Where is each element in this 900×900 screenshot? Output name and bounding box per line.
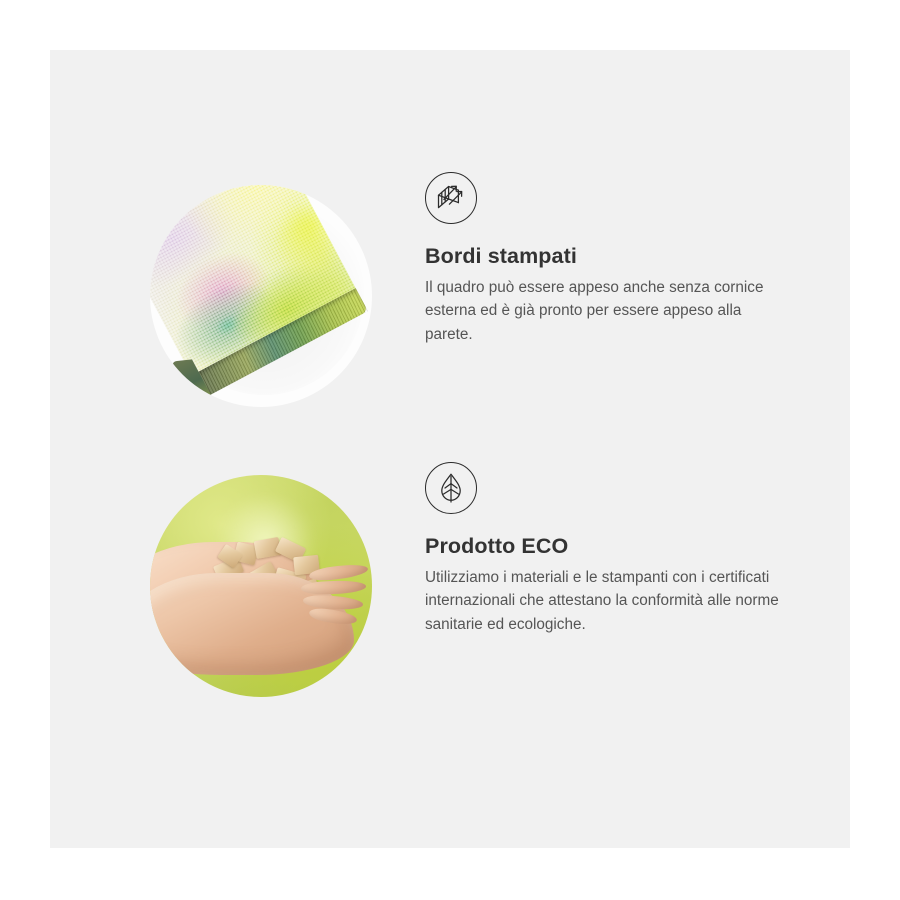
content-panel: Bordi stampati Il quadro può essere appe… xyxy=(50,50,850,848)
finger xyxy=(301,580,366,595)
feature-title: Prodotto ECO xyxy=(425,534,805,559)
feature-block-printed-edges: Bordi stampati Il quadro può essere appe… xyxy=(50,160,850,382)
hands-holding-wood-chips-photo xyxy=(150,475,372,697)
canvas-slab xyxy=(150,185,372,407)
feature-description: Utilizziamo i materiali e le stampanti c… xyxy=(425,566,787,636)
feature-body-eco-product: Prodotto ECO Utilizziamo i materiali e l… xyxy=(425,462,805,636)
feature-body-printed-edges: Bordi stampati Il quadro può essere appe… xyxy=(425,172,805,346)
canvas-corner-photo xyxy=(150,185,372,407)
feature-title: Bordi stampati xyxy=(425,244,805,269)
feature-description: Il quadro può essere appeso anche senza … xyxy=(425,276,787,346)
finger xyxy=(302,594,363,611)
leaf-icon xyxy=(425,462,477,514)
feature-block-eco-product: Prodotto ECO Utilizziamo i materiali e l… xyxy=(50,450,850,672)
fingers-group xyxy=(292,564,367,622)
printed-edges-icon xyxy=(425,172,477,224)
finger xyxy=(308,563,368,583)
infographic-page: Bordi stampati Il quadro può essere appe… xyxy=(0,0,900,900)
